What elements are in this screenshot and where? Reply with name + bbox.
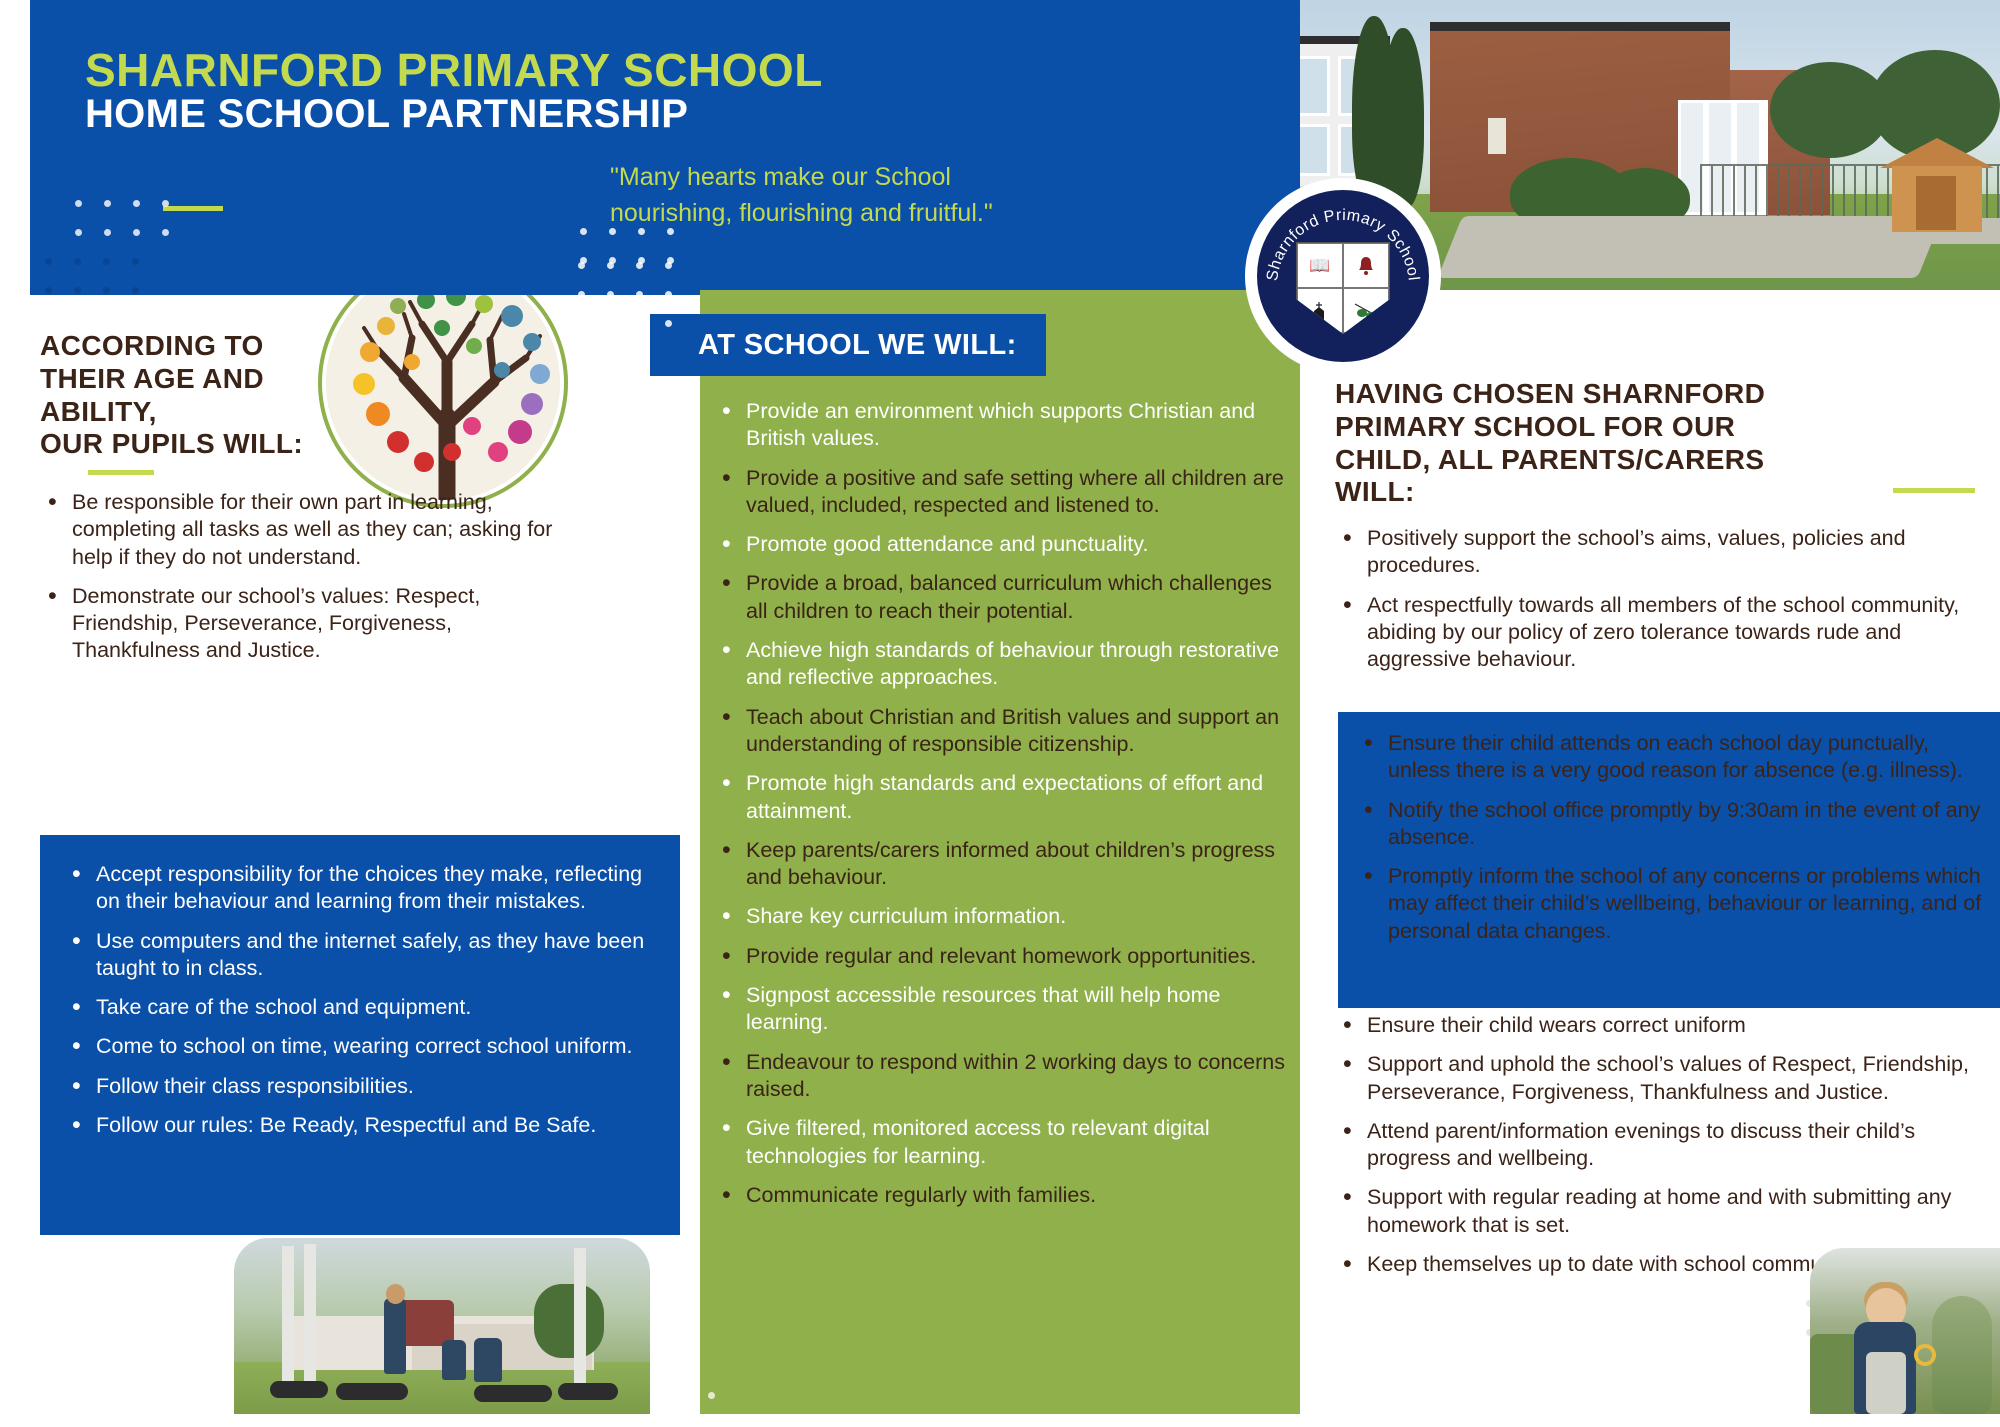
list-item: Positively support the school’s aims, va… xyxy=(1335,525,1995,580)
dot xyxy=(132,287,139,294)
dot xyxy=(75,200,82,207)
dot xyxy=(45,258,52,265)
dot xyxy=(578,262,585,269)
pupils-responsibilities-box: Accept responsibility for the choices th… xyxy=(40,835,680,1235)
child-crouching xyxy=(474,1338,502,1382)
dot xyxy=(609,228,616,235)
list-item: Support with regular reading at home and… xyxy=(1335,1184,1995,1239)
child-with-magnifying-glass-photo xyxy=(1810,1248,2000,1414)
page-subtitle: HOME SCHOOL PARTNERSHIP xyxy=(85,92,688,136)
heading-line: OUR PUPILS WILL: xyxy=(40,428,303,459)
right-heading-rule xyxy=(1893,488,1975,493)
parents-attendance-list: Ensure their child attends on each schoo… xyxy=(1356,730,1988,945)
school-commitments-list: Provide an environment which supports Ch… xyxy=(714,398,1294,1221)
child-apron xyxy=(1866,1352,1906,1414)
dot xyxy=(103,258,110,265)
dot xyxy=(652,1392,659,1399)
left-column: ACCORDING TO THEIR AGE AND ABILITY, OUR … xyxy=(40,330,560,677)
header-banner: SHARNFORD PRIMARY SCHOOL HOME SCHOOL PAR… xyxy=(30,0,1300,295)
list-item: Keep parents/carers informed about child… xyxy=(714,837,1286,892)
hedge xyxy=(1810,1334,1860,1414)
list-item: Attend parent/information evenings to di… xyxy=(1335,1118,1995,1173)
dot xyxy=(636,291,643,298)
left-column-heading: ACCORDING TO THEIR AGE AND ABILITY, OUR … xyxy=(40,330,560,461)
dot xyxy=(664,1335,671,1342)
heading-line: HAVING CHOSEN SHARNFORD xyxy=(1335,378,1765,409)
list-item: Endeavour to respond within 2 working da… xyxy=(714,1049,1286,1104)
dot xyxy=(693,1335,700,1342)
dot xyxy=(103,287,110,294)
dot xyxy=(652,1420,659,1427)
birch-tree xyxy=(304,1244,316,1394)
dot xyxy=(74,258,81,265)
child-standing xyxy=(384,1298,406,1374)
dot xyxy=(133,200,140,207)
school-motto-quote: "Many hearts make our School nourishing,… xyxy=(610,160,1030,231)
playhouse-door xyxy=(1916,176,1956,230)
children-playing-outdoors-photo xyxy=(234,1238,650,1414)
dot xyxy=(665,262,672,269)
dot xyxy=(104,200,111,207)
list-item: Demonstrate our school’s values: Respect… xyxy=(40,583,560,665)
dot xyxy=(665,320,672,327)
dot xyxy=(607,291,614,298)
dot xyxy=(578,320,585,327)
dot xyxy=(693,1306,700,1313)
heading-line: ABILITY, xyxy=(40,396,157,427)
dot xyxy=(607,262,614,269)
heading-line: WILL: xyxy=(1335,476,1415,507)
dot xyxy=(578,291,585,298)
open-book-icon: 📖 xyxy=(1297,243,1343,288)
list-item: Notify the school office promptly by 9:3… xyxy=(1356,797,1988,852)
dot xyxy=(664,1306,671,1313)
dot xyxy=(636,320,643,327)
playhouse xyxy=(1888,138,1986,232)
wall-sign xyxy=(1488,118,1506,154)
tree xyxy=(534,1284,604,1358)
conifer-tree xyxy=(1382,28,1424,208)
child-crouching xyxy=(442,1340,466,1380)
list-item: Take care of the school and equipment. xyxy=(64,994,650,1021)
dot xyxy=(638,228,645,235)
list-item: Provide a broad, balanced curriculum whi… xyxy=(714,570,1286,625)
dot xyxy=(162,229,169,236)
list-item: Provide regular and relevant homework op… xyxy=(714,943,1286,970)
dot xyxy=(74,287,81,294)
dot xyxy=(132,258,139,265)
left-heading-rule xyxy=(88,470,154,475)
list-item: Promote high standards and expectations … xyxy=(714,770,1286,825)
tyre xyxy=(270,1381,328,1398)
list-item: Follow their class responsibilities. xyxy=(64,1073,650,1100)
dot xyxy=(133,229,140,236)
middle-column: AT SCHOOL WE WILL: Provide an environmen… xyxy=(700,290,1300,1414)
list-item: Share key curriculum information. xyxy=(714,903,1286,930)
left-column-list: Be responsible for their own part in lea… xyxy=(40,489,560,665)
magnifying-glass-icon xyxy=(1914,1344,1936,1366)
bell-icon xyxy=(1343,243,1389,288)
dot xyxy=(708,1392,715,1399)
tyre xyxy=(474,1385,552,1402)
birch-tree xyxy=(574,1248,586,1388)
list-item: Provide an environment which supports Ch… xyxy=(714,398,1286,453)
list-item: Support and uphold the school’s values o… xyxy=(1335,1051,1995,1106)
right-column: HAVING CHOSEN SHARNFORD PRIMARY SCHOOL F… xyxy=(1335,378,1995,685)
middle-column-heading: AT SCHOOL WE WILL: xyxy=(650,314,1046,376)
list-item: Be responsible for their own part in lea… xyxy=(40,489,560,571)
heading-line: THEIR AGE AND xyxy=(40,363,264,394)
dot xyxy=(607,320,614,327)
list-item: Promptly inform the school of any concer… xyxy=(1356,863,1988,945)
list-item: Follow our rules: Be Ready, Respectful a… xyxy=(64,1112,650,1139)
list-item: Give filtered, monitored access to relev… xyxy=(714,1115,1286,1170)
child-head xyxy=(386,1284,405,1304)
parents-attendance-box: Ensure their child attends on each schoo… xyxy=(1338,712,2000,1008)
parents-commitments-list-top: Positively support the school’s aims, va… xyxy=(1335,525,1995,673)
list-item: Use computers and the internet safely, a… xyxy=(64,928,650,983)
dot xyxy=(665,291,672,298)
dot xyxy=(75,229,82,236)
dot xyxy=(45,287,52,294)
logo-circle: Sharnford Primary School 📖 xyxy=(1257,190,1429,362)
plants xyxy=(1932,1296,1992,1414)
list-item: Come to school on time, wearing correct … xyxy=(64,1033,650,1060)
list-item: Ensure their child wears correct uniform xyxy=(1335,1012,1995,1039)
list-item: Communicate regularly with families. xyxy=(714,1182,1286,1209)
list-item: Provide a positive and safe setting wher… xyxy=(714,465,1286,520)
list-item: Teach about Christian and British values… xyxy=(714,704,1286,759)
list-item: Promote good attendance and punctuality. xyxy=(714,531,1286,558)
dot xyxy=(708,1420,715,1427)
school-logo-badge: Sharnford Primary School 📖 xyxy=(1245,178,1441,374)
dot xyxy=(104,229,111,236)
page-title: SHARNFORD PRIMARY SCHOOL xyxy=(85,46,823,96)
heading-line: ACCORDING TO xyxy=(40,330,264,361)
list-item: Act respectfully towards all members of … xyxy=(1335,592,1995,674)
tyre xyxy=(558,1383,618,1400)
dot xyxy=(636,262,643,269)
tyre xyxy=(336,1383,408,1400)
heading-line: PRIMARY SCHOOL FOR OUR xyxy=(1335,411,1735,442)
dot xyxy=(667,228,674,235)
dot xyxy=(680,1392,687,1399)
birch-tree xyxy=(282,1246,294,1390)
pupils-responsibilities-list: Accept responsibility for the choices th… xyxy=(64,861,650,1139)
list-item: Accept responsibility for the choices th… xyxy=(64,861,650,916)
list-item: Achieve high standards of behaviour thro… xyxy=(714,637,1286,692)
list-item: Ensure their child attends on each schoo… xyxy=(1356,730,1988,785)
header-accent-rule xyxy=(163,206,223,211)
dot xyxy=(162,200,169,207)
heading-line: CHILD, ALL PARENTS/CARERS xyxy=(1335,444,1765,475)
poster-page: SHARNFORD PRIMARY SCHOOL HOME SCHOOL PAR… xyxy=(0,0,2000,1414)
dot xyxy=(680,1420,687,1427)
list-item: Signpost accessible resources that will … xyxy=(714,982,1286,1037)
dot xyxy=(580,228,587,235)
playhouse-roof xyxy=(1880,138,1994,168)
